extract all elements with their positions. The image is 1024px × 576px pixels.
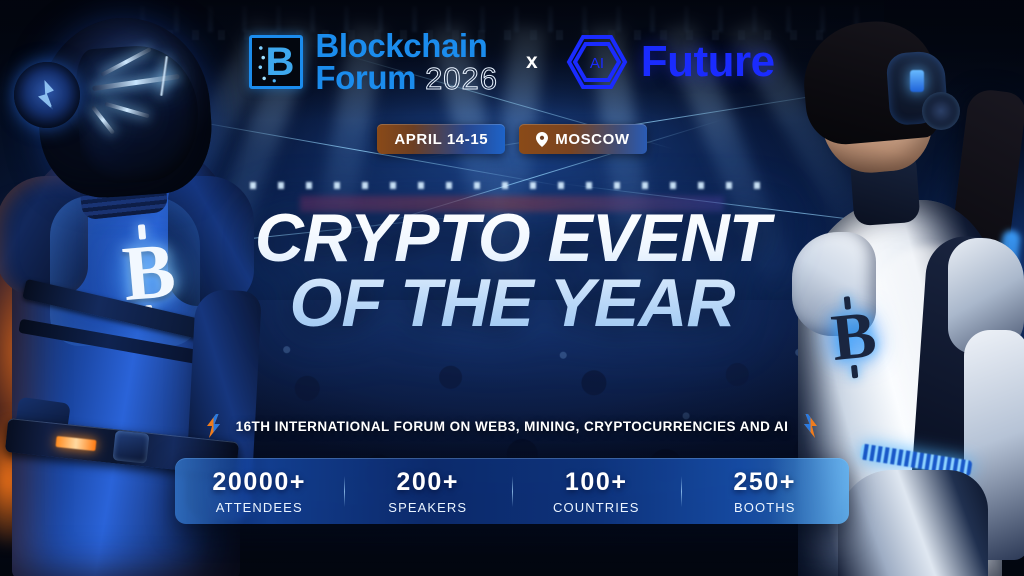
stats-bar: 20000+ ATTENDEES 200+ SPEAKERS 100+ COUN… (175, 458, 849, 524)
date-badge[interactable]: APRIL 14-15 (377, 124, 505, 154)
stat-value: 250+ (685, 468, 846, 497)
mark-letter: B (266, 42, 295, 82)
ai-hexagon-icon: AI (566, 34, 628, 90)
headline-line-2: OF THE YEAR (0, 271, 1024, 336)
lightning-bolt-icon (802, 414, 819, 438)
location-badge[interactable]: MOSCOW (519, 124, 646, 154)
stat-label: BOOTHS (685, 500, 846, 515)
banner-content: B Blockchain Forum 2026 x AI Future (0, 0, 1024, 576)
logo-separator: x (526, 50, 538, 74)
subtitle-text: 16TH INTERNATIONAL FORUM ON WEB3, MINING… (236, 419, 789, 434)
stat-booths: 250+ BOOTHS (681, 468, 850, 515)
subtitle-row: 16TH INTERNATIONAL FORUM ON WEB3, MINING… (0, 414, 1024, 438)
promo-banner: B B (0, 0, 1024, 576)
ai-hexagon-label: AI (590, 55, 604, 72)
blockchain-forum-mark-icon: B (249, 35, 303, 89)
ai-future-wordmark: Future (641, 37, 775, 87)
stat-attendees: 20000+ ATTENDEES (175, 468, 344, 515)
location-pin-icon (536, 132, 548, 147)
logo-line-1: Blockchain (315, 30, 498, 62)
page-title: CRYPTO EVENT OF THE YEAR (0, 206, 1024, 337)
stat-value: 200+ (348, 468, 509, 497)
logo-row: B Blockchain Forum 2026 x AI Future (0, 30, 1024, 95)
stat-speakers: 200+ SPEAKERS (344, 468, 513, 515)
blockchain-forum-wordmark: Blockchain Forum 2026 (315, 30, 498, 95)
stat-label: COUNTRIES (516, 500, 677, 515)
logo-year: 2026 (425, 64, 498, 94)
ai-future-logo[interactable]: AI Future (566, 34, 775, 90)
lightning-bolt-icon (205, 414, 222, 438)
stat-value: 100+ (516, 468, 677, 497)
blockchain-forum-logo[interactable]: B Blockchain Forum 2026 (249, 30, 498, 95)
date-badge-label: APRIL 14-15 (394, 131, 488, 148)
logo-line-2: Forum (315, 62, 416, 94)
stat-value: 20000+ (179, 468, 340, 497)
event-badges: APRIL 14-15 MOSCOW (0, 124, 1024, 154)
stat-label: SPEAKERS (348, 500, 509, 515)
location-badge-label: MOSCOW (555, 131, 629, 148)
stat-countries: 100+ COUNTRIES (512, 468, 681, 515)
stat-label: ATTENDEES (179, 500, 340, 515)
